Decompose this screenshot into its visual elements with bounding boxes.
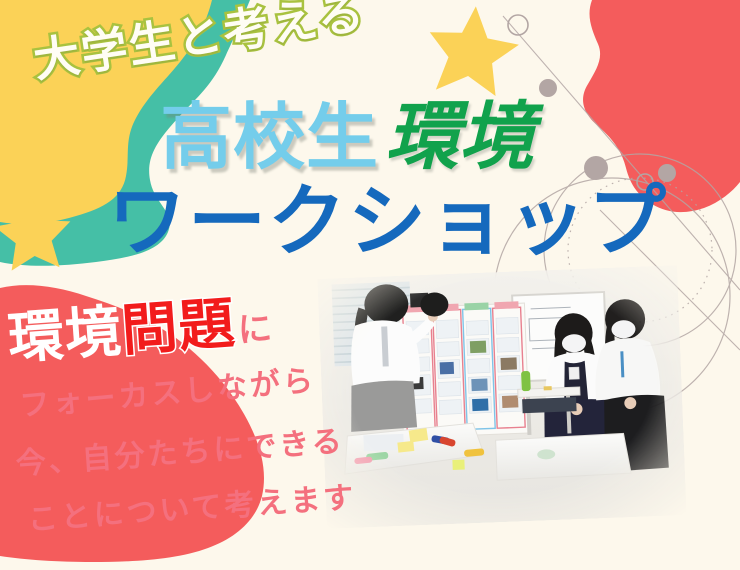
lead-suffix: に (237, 312, 274, 348)
poster-title-line2: ワークショップ (108, 183, 668, 261)
title-kankyou: 環境 (385, 100, 533, 174)
title-koukousei: 高校生 (160, 101, 379, 173)
poster-title-line1: 高校生 環境 (160, 100, 533, 174)
lead-red: 問題 (120, 296, 238, 360)
poster-canvas: 大学生と考える 高校生 環境 ワークショップ 環境 問題 に フォーカスしながら… (0, 0, 740, 570)
workshop-photo (317, 265, 686, 529)
lead-white: 環境 (6, 304, 124, 368)
